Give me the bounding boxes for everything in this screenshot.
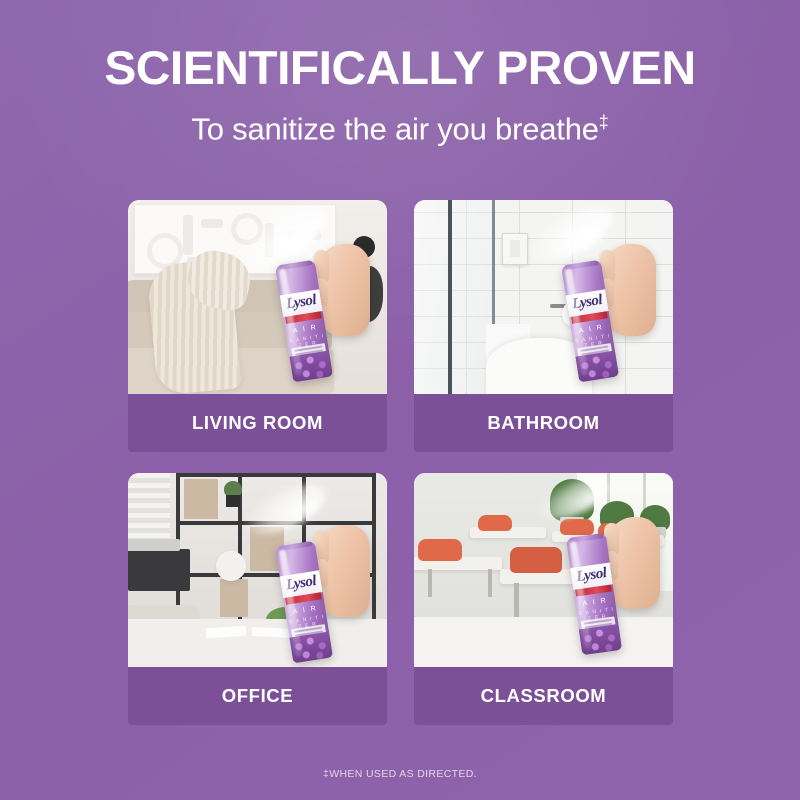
photo-classroom: Lysol A I R S A N I T I Z E R <box>414 473 673 667</box>
card-label-text: CLASSROOM <box>481 685 607 707</box>
light-switch-plate <box>502 233 528 265</box>
card-label-classroom: CLASSROOM <box>414 667 673 725</box>
scene-card-classroom[interactable]: Lysol A I R S A N I T I Z E R CLASSROOM <box>414 473 673 725</box>
card-label-text: LIVING ROOM <box>192 412 323 434</box>
page-subtitle-text: To sanitize the air you breathe <box>191 111 598 146</box>
product-in-hand: Lysol A I R S A N I T I Z E R <box>278 226 387 394</box>
shelf-panel <box>220 579 248 617</box>
chair <box>478 515 512 531</box>
product-in-hand: Lysol A I R S A N I T I Z E R <box>564 495 673 667</box>
header: SCIENTIFICALLY PROVEN To sanitize the ai… <box>0 44 800 144</box>
scene-card-grid: Lysol A I R S A N I T I Z E R LIVING ROO… <box>128 200 673 725</box>
product-in-hand: Lysol A I R S A N I T I Z E R <box>278 507 387 667</box>
card-label-bathroom: BATHROOM <box>414 394 673 452</box>
photo-living-room: Lysol A I R S A N I T I Z E R <box>128 200 387 394</box>
card-label-text: OFFICE <box>222 685 293 707</box>
page-subtitle: To sanitize the air you breathe‡ <box>0 113 800 144</box>
printer <box>128 549 190 591</box>
scene-card-living-room[interactable]: Lysol A I R S A N I T I Z E R LIVING ROO… <box>128 200 387 452</box>
scene-card-office[interactable]: Lysol A I R S A N I T I Z E R OFFICE <box>128 473 387 725</box>
shelf-panel <box>184 479 218 519</box>
desk-lamp-globe <box>216 551 246 581</box>
desk-leg <box>428 569 432 597</box>
card-label-living-room: LIVING ROOM <box>128 394 387 452</box>
product-in-hand: Lysol A I R S A N I T I Z E R <box>564 226 673 394</box>
art-bar <box>201 219 223 228</box>
art-bar <box>183 215 193 255</box>
card-row-bottom: Lysol A I R S A N I T I Z E R OFFICE <box>128 473 673 725</box>
chair <box>418 539 462 561</box>
card-label-text: BATHROOM <box>487 412 599 434</box>
photo-bathroom: Lysol A I R S A N I T I Z E R <box>414 200 673 394</box>
shower-glass-panel <box>414 200 494 394</box>
photo-office: Lysol A I R S A N I T I Z E R <box>128 473 387 667</box>
card-row-top: Lysol A I R S A N I T I Z E R LIVING ROO… <box>128 200 673 452</box>
promo-poster: SCIENTIFICALLY PROVEN To sanitize the ai… <box>0 0 800 800</box>
card-label-office: OFFICE <box>128 667 387 725</box>
page-title: SCIENTIFICALLY PROVEN <box>0 44 800 91</box>
shower-frame <box>448 200 452 394</box>
desk-leg <box>488 569 492 597</box>
shelf-plant-pot <box>226 495 240 507</box>
chair <box>510 547 562 573</box>
double-dagger-marker: ‡ <box>599 112 609 132</box>
footnote: ‡WHEN USED AS DIRECTED. <box>0 768 800 780</box>
scene-card-bathroom[interactable]: Lysol A I R S A N I T I Z E R BATHROOM <box>414 200 673 452</box>
